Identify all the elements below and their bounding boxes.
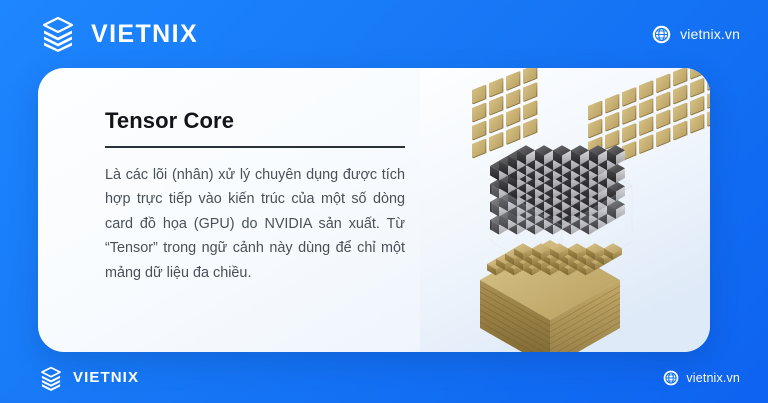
card-text-column: Tensor Core Là các lõi (nhân) xử lý chuy… (105, 108, 417, 285)
footer: VIETNIX vietnix.vn (0, 352, 768, 403)
footer-brand-logo[interactable]: VIETNIX (38, 365, 139, 391)
site-url-footer[interactable]: vietnix.vn (663, 370, 740, 386)
content-card: Tensor Core Là các lõi (nhân) xử lý chuy… (38, 68, 710, 352)
card-description: Là các lõi (nhân) xử lý chuyên dụng được… (105, 163, 405, 286)
header: VIETNIX vietnix.vn (0, 0, 768, 68)
tensor-core-3d-illustration (420, 68, 710, 352)
brand-logo[interactable]: VIETNIX (38, 14, 198, 54)
page-title: Tensor Core (105, 108, 417, 134)
brand-wordmark: VIETNIX (91, 22, 198, 47)
gold-stack-base (480, 240, 622, 352)
footer-site-url-text: vietnix.vn (686, 371, 740, 385)
stacked-layers-icon (38, 14, 78, 54)
site-url-text: vietnix.vn (680, 26, 740, 42)
stacked-layers-icon (38, 365, 64, 391)
globe-icon (652, 25, 671, 44)
footer-brand-wordmark: VIETNIX (73, 370, 139, 385)
title-divider (105, 146, 405, 148)
site-url-header[interactable]: vietnix.vn (652, 25, 740, 44)
slide-canvas: VIETNIX vietnix.vn Tensor Core Là các l (0, 0, 768, 403)
globe-icon (663, 370, 679, 386)
